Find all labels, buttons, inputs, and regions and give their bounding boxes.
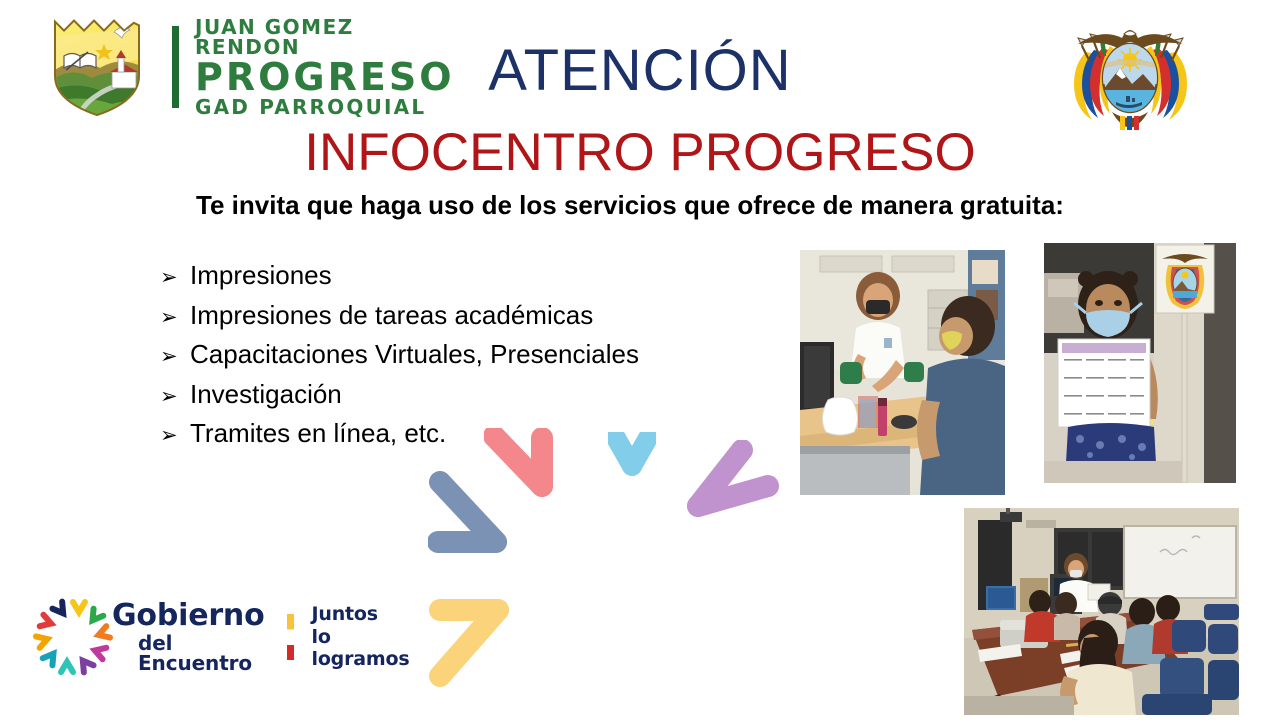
subtitle-text: Te invita que haga uso de los servicios … [150, 192, 1110, 219]
gobierno-tagline-line1: Juntos [312, 603, 410, 625]
list-item: ➢ Investigación [160, 375, 820, 415]
gobierno-del-encuentro-logo: Gobierno del Encuentro Juntos lo logramo… [30, 592, 410, 682]
service-list: ➢ Impresiones ➢ Impresiones de tareas ac… [160, 256, 820, 454]
page-title-atencion: ATENCIÓN [0, 42, 1280, 100]
list-item-label: Impresiones de tareas académicas [190, 296, 593, 336]
bullet-arrow-icon: ➢ [160, 302, 178, 334]
bullet-arrow-icon: ➢ [160, 262, 178, 294]
list-item-label: Tramites en línea, etc. [190, 414, 446, 454]
list-item-label: Capacitaciones Virtuales, Presenciales [190, 335, 639, 375]
gobierno-tagline: Juntos lo logramos [312, 603, 410, 670]
list-item-label: Impresiones [190, 256, 332, 296]
photo-capacitacion-aula [964, 508, 1239, 715]
photo-nina-impresion [1044, 243, 1236, 483]
chevron-coral-red [484, 428, 574, 508]
bullet-arrow-icon: ➢ [160, 420, 178, 452]
photo-atencion-escritorio [800, 250, 1005, 495]
gobierno-line2: del Encuentro [138, 633, 265, 673]
list-item: ➢ Impresiones de tareas académicas [160, 296, 820, 336]
chevron-orchid-purple [682, 440, 782, 530]
gobierno-flag-divider [287, 614, 294, 660]
colored-chevron-burst-icon [30, 594, 116, 680]
list-item-label: Investigación [190, 375, 342, 415]
chevron-sky-blue [608, 432, 656, 482]
page-title-infocentro: INFOCENTRO PROGRESO [0, 126, 1280, 179]
gobierno-tagline-line2: lo logramos [312, 626, 410, 671]
list-item: ➢ Impresiones [160, 256, 820, 296]
slide-canvas: JUAN GOMEZ RENDON PROGRESO GAD PARROQUIA… [0, 0, 1280, 720]
gobierno-wordmark: Gobierno del Encuentro [112, 601, 265, 673]
bullet-arrow-icon: ➢ [160, 341, 178, 373]
bullet-arrow-icon: ➢ [160, 381, 178, 413]
gobierno-line1: Gobierno [112, 601, 265, 631]
list-item: ➢ Capacitaciones Virtuales, Presenciales [160, 335, 820, 375]
chevron-golden-yellow [428, 596, 518, 700]
